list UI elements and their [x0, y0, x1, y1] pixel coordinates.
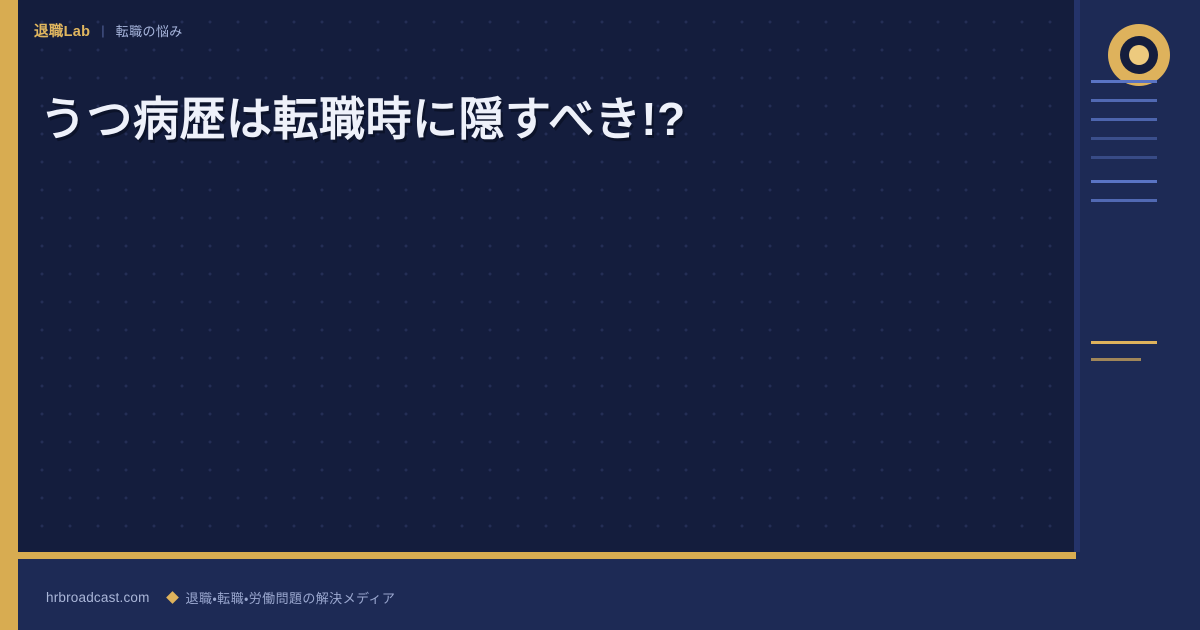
footer-tagline-group: 退職・転職・労働問題の解決メディア	[168, 588, 396, 607]
sidebar-rule-1	[1091, 99, 1157, 102]
site-url[interactable]: hrbroadcast.com	[46, 590, 150, 605]
brand-name[interactable]: 退職Lab	[34, 20, 90, 41]
footer-content: hrbroadcast.com 退職・転職・労働問題の解決メディア	[46, 588, 395, 607]
footer-tagline: 退職・転職・労働問題の解決メディア	[186, 588, 396, 607]
diamond-icon	[166, 591, 179, 604]
target-ring-icon	[1108, 24, 1170, 86]
sidebar-rule-2	[1091, 118, 1157, 121]
sidebar-rule-4	[1091, 156, 1157, 159]
right-sidebar	[1080, 0, 1200, 630]
social-share-card: 退職Lab | 転職の悩み うつ病歴は転職時に隠すべき!? hrbroadcas…	[0, 0, 1200, 630]
footer-divider	[18, 552, 1076, 559]
category-label[interactable]: 転職の悩み	[116, 21, 183, 40]
breadcrumb: 退職Lab | 転職の悩み	[34, 20, 183, 41]
sidebar-rule-5	[1091, 180, 1157, 183]
sidebar-rule-0	[1091, 80, 1157, 83]
sidebar-rule-7	[1091, 341, 1157, 344]
sidebar-rule-8	[1091, 358, 1141, 361]
sidebar-rule-3	[1091, 137, 1157, 140]
main-stage	[18, 0, 1074, 552]
logo-inner-ring	[1120, 36, 1158, 74]
page-title: うつ病歴は転職時に隠すべき!?	[40, 88, 1040, 151]
logo-center-dot	[1129, 45, 1149, 65]
sidebar-rule-6	[1091, 199, 1157, 202]
left-accent-bar	[0, 0, 18, 630]
breadcrumb-separator: |	[101, 23, 104, 38]
